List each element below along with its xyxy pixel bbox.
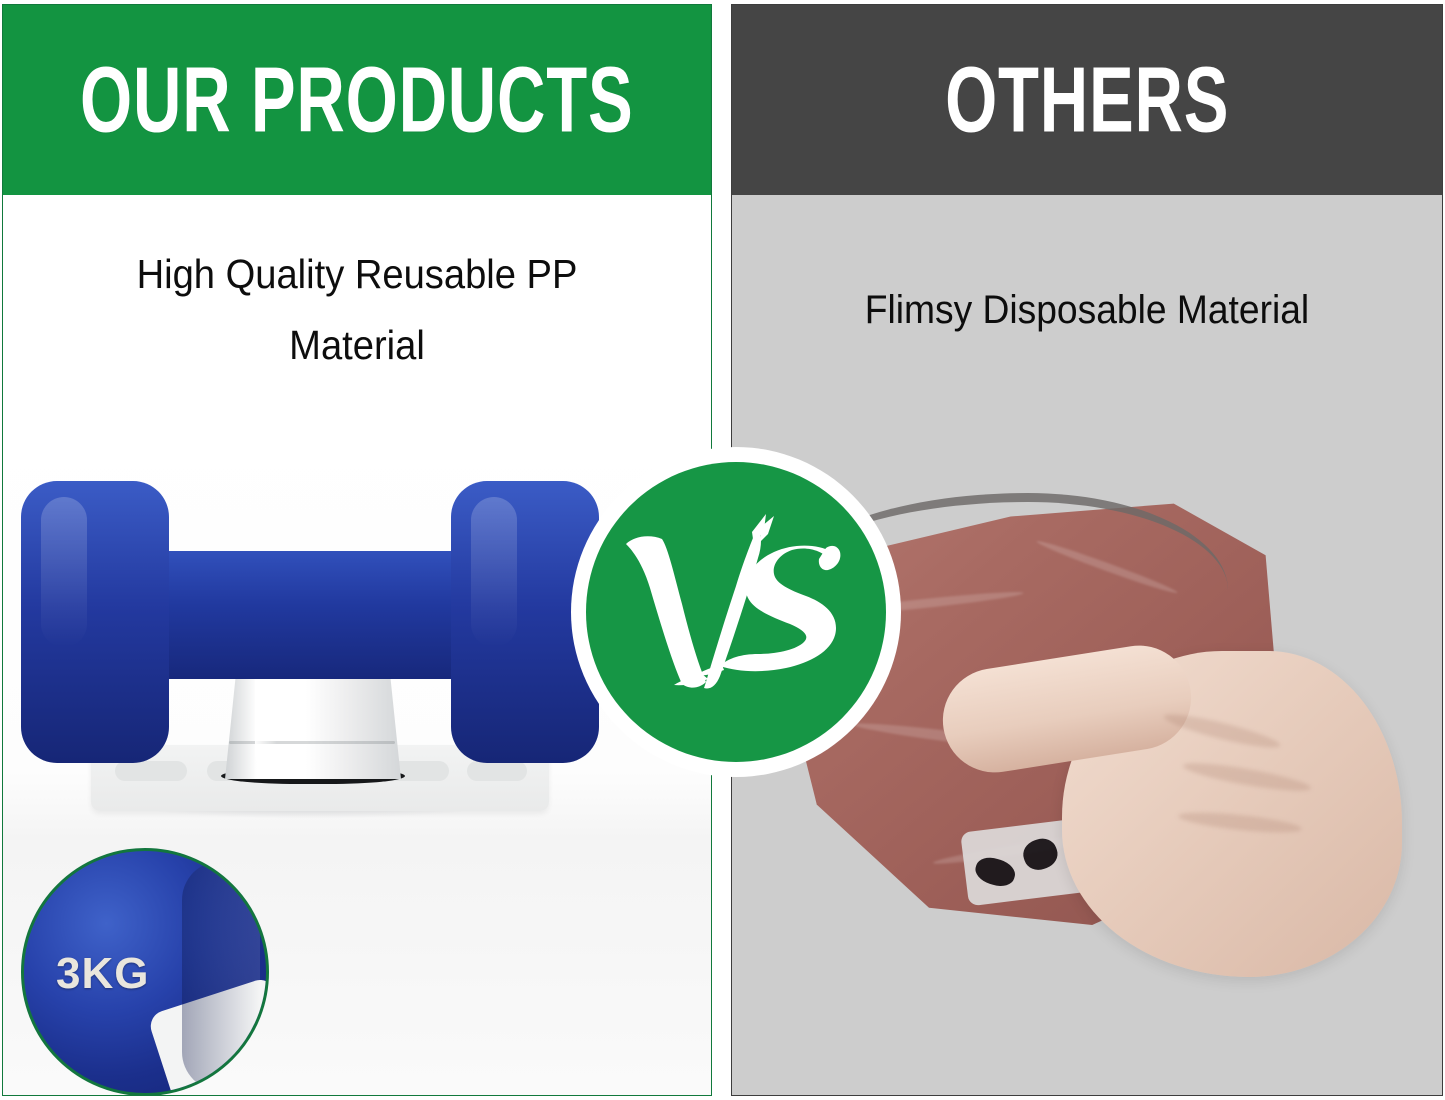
pp-cup-ridge bbox=[229, 741, 395, 744]
vs-badge-circle: VS bbox=[586, 462, 886, 762]
vs-badge: VS bbox=[571, 447, 901, 777]
our-products-header-title: OUR PRODUCTS bbox=[80, 54, 633, 147]
our-products-subtitle-text: High Quality Reusable PP Material bbox=[69, 239, 646, 380]
others-header: OTHERS bbox=[732, 5, 1442, 195]
tray-slot bbox=[115, 761, 187, 781]
vs-brush-glyph: VS bbox=[616, 512, 856, 712]
inset-dumbbell-edge bbox=[182, 861, 260, 1091]
tray-slot bbox=[467, 761, 527, 781]
dumbbell-closeup-inset: 3KG bbox=[21, 848, 269, 1096]
others-subtitle: Flimsy Disposable Material bbox=[732, 195, 1442, 425]
bag-label-mark bbox=[1019, 835, 1061, 874]
comparison-infographic: OUR PRODUCTS High Quality Reusable PP Ma… bbox=[0, 0, 1445, 1100]
bag-label-mark bbox=[972, 854, 1018, 891]
our-products-subtitle: High Quality Reusable PP Material bbox=[3, 195, 711, 425]
our-products-header: OUR PRODUCTS bbox=[3, 5, 711, 195]
dumbbell-head-left bbox=[21, 481, 169, 763]
dumbbell-highlight bbox=[41, 497, 87, 647]
dumbbell-bar bbox=[135, 551, 491, 679]
others-subtitle-text: Flimsy Disposable Material bbox=[865, 278, 1309, 342]
weight-label: 3KG bbox=[56, 949, 149, 999]
others-header-title: OTHERS bbox=[945, 54, 1229, 147]
dumbbell-highlight bbox=[471, 497, 517, 647]
